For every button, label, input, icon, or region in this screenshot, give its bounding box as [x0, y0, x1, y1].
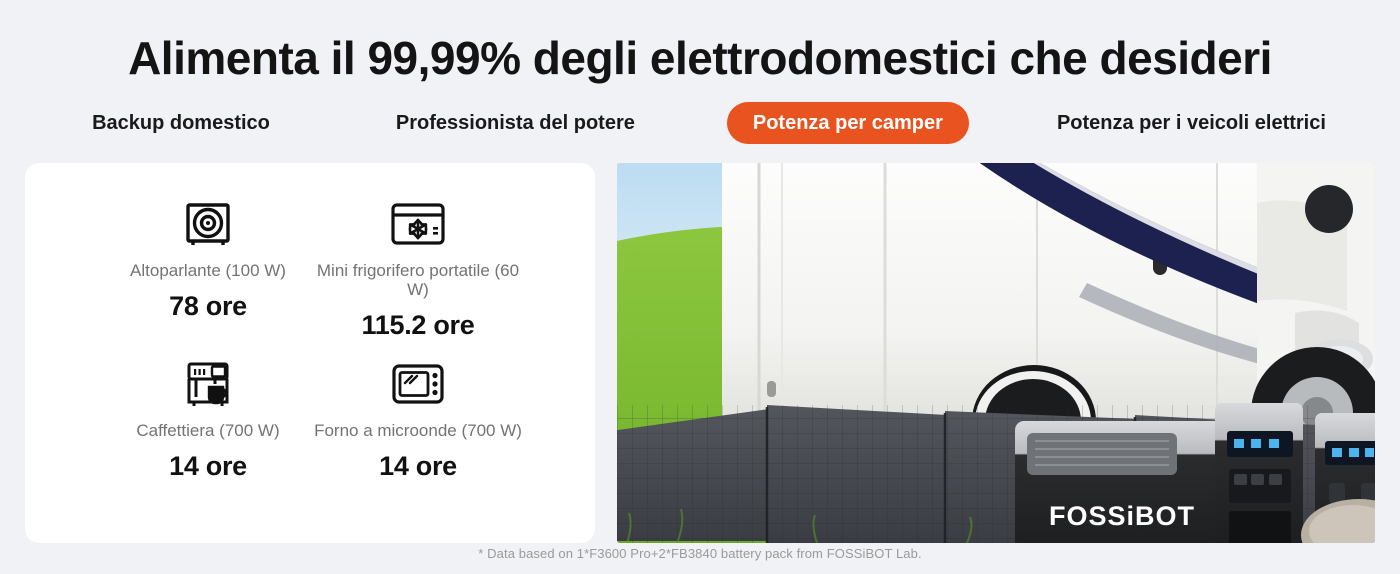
appliance-item-speaker: Altoparlante (100 W) 78 ore	[103, 197, 313, 357]
tab-backup-domestico[interactable]: Backup domestico	[66, 102, 296, 144]
portable-fridge-icon	[389, 197, 447, 253]
coffee-machine-icon	[182, 357, 234, 413]
appliance-label: Altoparlante (100 W)	[130, 261, 286, 280]
appliance-grid: Altoparlante (100 W) 78 ore	[25, 163, 595, 543]
appliance-item-portable-fridge: Mini frigorifero portatile (60 W) 115.2 …	[313, 197, 523, 357]
content-panel: Altoparlante (100 W) 78 ore	[25, 163, 1375, 543]
microwave-icon	[390, 357, 446, 413]
appliance-item-coffee-machine: Caffettiera (700 W) 14 ore	[103, 357, 313, 517]
appliance-runtime-card: Altoparlante (100 W) 78 ore	[25, 163, 595, 543]
page-title: Alimenta il 99,99% degli elettrodomestic…	[0, 0, 1400, 82]
appliance-label: Forno a microonde (700 W)	[314, 421, 522, 440]
tab-potenza-per-i-veicoli-elettrici[interactable]: Potenza per i veicoli elettrici	[1031, 102, 1352, 144]
appliance-item-microwave: Forno a microonde (700 W) 14 ore	[313, 357, 523, 517]
speaker-icon	[182, 197, 234, 253]
tab-bar: Backup domestico Professionista del pote…	[0, 102, 1400, 144]
tab-professionista-del-potere[interactable]: Professionista del potere	[370, 102, 661, 144]
power-station-brand-text: FOSSiBOT	[1049, 501, 1195, 531]
camper-scene-photo: FOSSiBOT	[617, 163, 1375, 543]
appliance-label: Caffettiera (700 W)	[136, 421, 279, 440]
appliance-runtime-value: 115.2 ore	[362, 310, 475, 341]
camper-scene-illustration: FOSSiBOT	[617, 163, 1375, 543]
tab-potenza-per-camper[interactable]: Potenza per camper	[727, 102, 969, 144]
appliance-label: Mini frigorifero portatile (60 W)	[313, 261, 523, 299]
appliance-runtime-value: 14 ore	[169, 451, 247, 482]
footnote-disclaimer: * Data based on 1*F3600 Pro+2*FB3840 bat…	[0, 546, 1400, 561]
appliance-runtime-value: 78 ore	[169, 291, 247, 322]
appliance-runtime-value: 14 ore	[379, 451, 457, 482]
